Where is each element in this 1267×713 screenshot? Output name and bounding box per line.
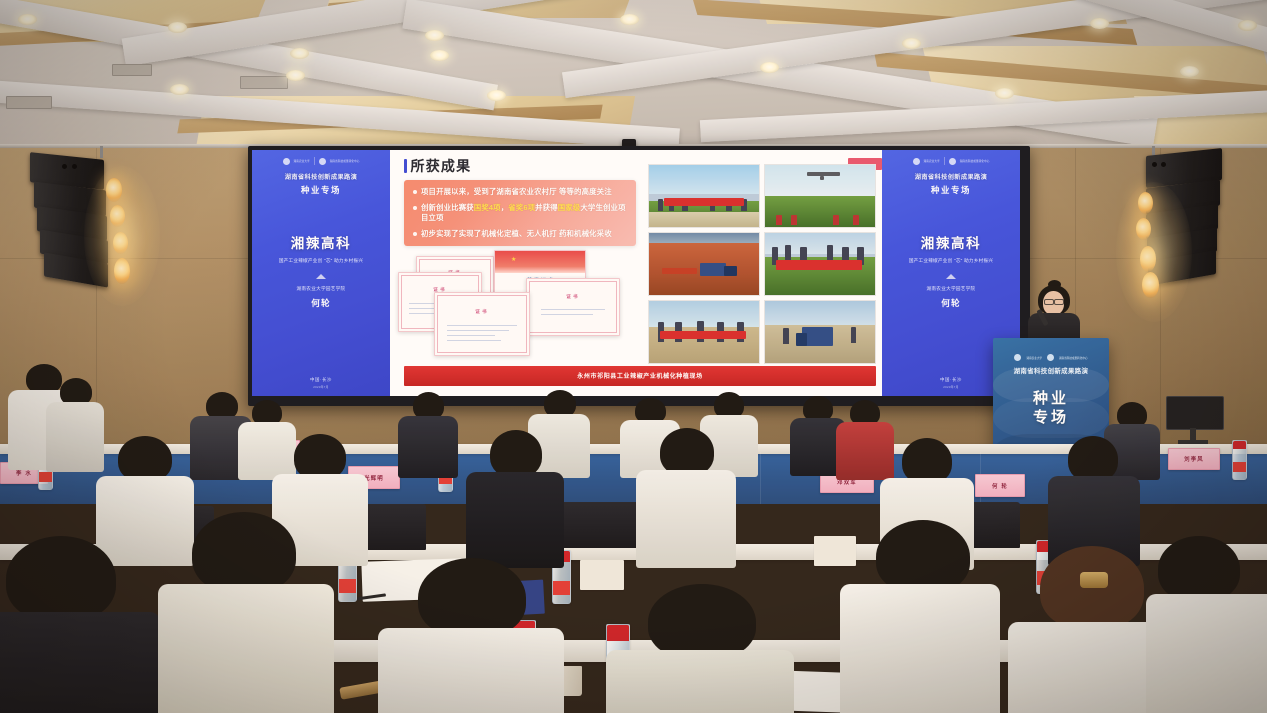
projection-screen: 湖南农业大学 湖南省科技成果转化中心 湖南省科技创新成果路演 种业专场 湘辣高科… xyxy=(252,150,1020,396)
slide-left-panel: 湖南农业大学 湖南省科技成果转化中心 湖南省科技创新成果路演 种业专场 湘辣高科… xyxy=(252,150,390,396)
center-logo-icon xyxy=(1047,354,1054,361)
field-photo-grid xyxy=(648,164,876,364)
slide-panel-project-sub: 国产工业辣椒产业创 "芯" 助力乡村振兴 xyxy=(882,258,1020,264)
audience-member xyxy=(636,428,736,560)
audience-member-foreground xyxy=(840,520,1000,713)
photo-cell xyxy=(648,300,760,364)
slide-panel-project-title: 湘辣高科 xyxy=(252,232,390,252)
bullet-2-highlight-3: 国家级 xyxy=(558,203,581,212)
slide-panel-logos: 湖南农业大学 湖南省科技成果转化中心 xyxy=(252,157,390,165)
slide-panel-project-title: 湘辣高科 xyxy=(882,232,1020,252)
slide-panel-project-sub: 国产工业辣椒产业创 "芯" 助力乡村振兴 xyxy=(252,258,390,264)
certificate-label: 证书 xyxy=(435,309,529,315)
bullet-3-text: 初步实现了实现了机械化定植、无人机打 xyxy=(421,229,557,238)
slide-panel-date: 2023年7月 xyxy=(252,385,390,389)
bullet-2: 创新创业比赛获国奖4项，省奖6项并获得国家级大学生创业项目立项 xyxy=(413,203,627,224)
slide-panel-heading: 湖南省科技创新成果路演 xyxy=(882,172,1020,181)
slide-title: 所获成果 xyxy=(411,156,472,176)
logo-right-label: 湖南省科技成果转化中心 xyxy=(960,159,990,163)
bullet-dot-icon xyxy=(413,232,417,236)
bullet-2-post: 并获得 xyxy=(535,203,558,212)
university-logo-icon xyxy=(1014,354,1021,361)
photo-caption-banner: 永州市祁阳县工业辣椒产业机械化种植现场 xyxy=(404,366,876,386)
audience-member-foreground xyxy=(158,512,334,713)
center-logo-icon xyxy=(319,158,326,165)
conference-hall-photo: 湖南农业大学 湖南省科技成果转化中心 湖南省科技创新成果路演 种业专场 湘辣高科… xyxy=(0,0,1267,713)
triangle-icon xyxy=(316,274,326,279)
podium-logo-left: 湖南农业大学 xyxy=(1026,356,1042,360)
photo-cell xyxy=(764,232,876,296)
audience-member-foreground xyxy=(1146,536,1267,713)
logo-left-label: 湖南农业大学 xyxy=(924,159,940,163)
audience-member xyxy=(398,392,458,470)
slide-content: 所获成果 项目开展以来，受到了湖南省农业农村厅 等等的高度关注 创新创业比赛获国… xyxy=(390,150,882,396)
university-logo-icon xyxy=(283,158,290,165)
audience-member-foreground xyxy=(606,584,794,713)
slide-panel-subheading: 种业专场 xyxy=(252,184,390,196)
certificate-label: 证书 xyxy=(527,294,619,300)
bottle-cap-icon xyxy=(1233,441,1246,449)
triangle-icon xyxy=(946,274,956,279)
audience-member-foreground xyxy=(0,536,160,713)
university-logo-icon xyxy=(913,158,920,165)
bullet-3-text-line2: 药和机械化采收 xyxy=(559,229,612,238)
name-card: 何 轮 xyxy=(975,474,1025,497)
logo-divider xyxy=(944,157,945,165)
slide-panel-presenter: 何轮 xyxy=(252,297,390,309)
bullet-1: 项目开展以来，受到了湖南省农业农村厅 等等的高度关注 xyxy=(413,187,627,198)
name-card: 刘李风 xyxy=(1168,448,1220,470)
audience-member xyxy=(466,430,564,560)
tractor-icon xyxy=(700,263,726,277)
logo-divider xyxy=(314,157,315,165)
podium-logo-right: 湖南省科技成果转化中心 xyxy=(1059,356,1088,360)
slide-panel-org: 湖南农业大学园艺学院 xyxy=(252,286,390,292)
slide-panel-subheading: 种业专场 xyxy=(882,184,1020,196)
bullet-1-text-line2: 等等的高度关注 xyxy=(559,187,612,196)
photo-caption-text: 永州市祁阳县工业辣椒产业机械化种植现场 xyxy=(404,371,876,380)
bullet-dot-icon xyxy=(413,190,417,194)
title-accent-bar xyxy=(404,159,407,173)
logo-left-label: 湖南农业大学 xyxy=(294,159,310,163)
bullet-dot-icon xyxy=(413,206,417,210)
slide-panel-org: 湖南农业大学园艺学院 xyxy=(882,286,1020,292)
center-logo-icon xyxy=(949,158,956,165)
bullet-2-highlight-2: 省奖6项 xyxy=(508,203,535,212)
photo-cell xyxy=(764,300,876,364)
name-card-text: 何 轮 xyxy=(992,482,1008,490)
achievements-card: 项目开展以来，受到了湖南省农业农村厅 等等的高度关注 创新创业比赛获国奖4项，省… xyxy=(404,180,636,246)
water-bottle xyxy=(1232,440,1247,480)
floor-monitor xyxy=(1166,396,1224,430)
glasses-icon xyxy=(1044,299,1054,305)
photo-cell xyxy=(648,232,760,296)
photo-cell xyxy=(764,164,876,228)
slide-panel-heading: 湖南省科技创新成果路演 xyxy=(252,172,390,181)
logo-right-label: 湖南省科技成果转化中心 xyxy=(330,159,360,163)
slide-title-row: 所获成果 xyxy=(404,156,471,176)
name-card-text: 李 水 xyxy=(16,469,32,477)
podium-logos: 湖南农业大学 湖南省科技成果转化中心 xyxy=(993,354,1109,361)
harvester-icon xyxy=(802,327,833,346)
bullet-2-highlight-1: 国奖4项 xyxy=(474,203,501,212)
name-card-text: 刘李风 xyxy=(1184,455,1204,463)
bullet-2-text: 创新创业比赛获 xyxy=(421,203,474,212)
audience-member xyxy=(1048,436,1140,558)
slide-panel-presenter: 何轮 xyxy=(882,297,1020,309)
bullet-3: 初步实现了实现了机械化定植、无人机打 药和机械化采收 xyxy=(413,229,627,240)
audience-member-foreground xyxy=(378,558,564,713)
ceiling xyxy=(0,0,1267,152)
slide-panel-city: 中国·长沙 xyxy=(252,377,390,383)
bullet-1-text: 项目开展以来，受到了湖南省农业农村厅 xyxy=(421,187,557,196)
photo-cell xyxy=(648,164,760,228)
hair-clip-icon xyxy=(1080,572,1108,588)
